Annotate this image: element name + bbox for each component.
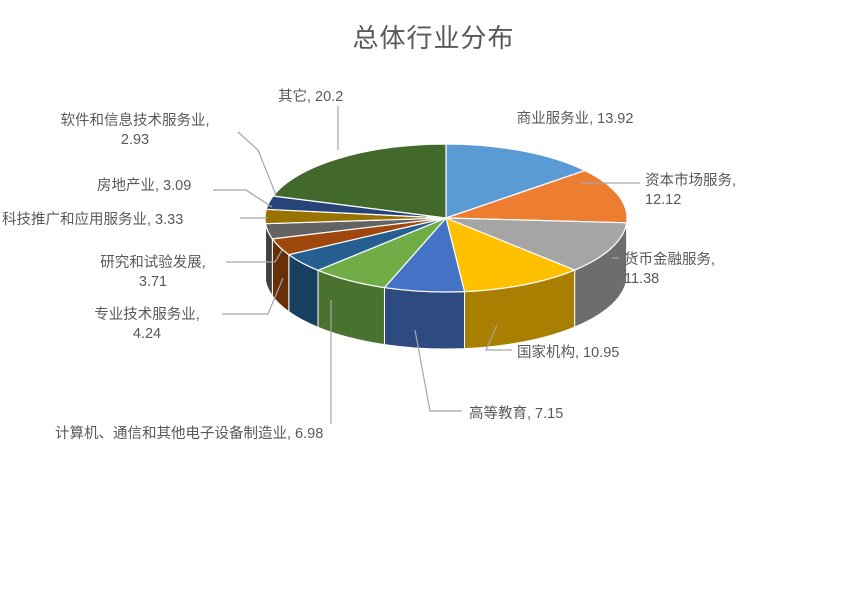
chart-area: 总体行业分布 商业服务业, 13.92 资本市场服务, 12.12 货币金融服务… [0, 0, 867, 596]
slice-label-real-estate: 房地产业, 3.09 [97, 177, 277, 196]
slice-label-business-services: 商业服务业, 13.92 [455, 110, 695, 129]
slice-label-monetary-finance: 货币金融服务, 11.38 [624, 251, 824, 288]
slice-label-higher-education: 高等教育, 7.15 [469, 405, 689, 424]
slice-label-computer-manufacturing: 计算机、通信和其他电子设备制造业, 6.98 [55, 425, 435, 444]
pie-slice-side [265, 217, 266, 280]
slice-label-tech-promotion: 科技推广和应用服务业, 3.33 [2, 211, 262, 230]
slice-label-others: 其它, 20.2 [278, 88, 438, 107]
slice-label-state-organs: 国家机构, 10.95 [517, 344, 747, 363]
slice-label-software-it: 软件和信息技术服务业, 2.93 [20, 112, 250, 149]
slice-label-capital-market: 资本市场服务, 12.12 [645, 172, 845, 209]
slice-label-research-development: 研究和试验发展, 3.71 [63, 254, 243, 291]
slice-label-professional-tech: 专业技术服务业, 4.24 [52, 306, 242, 343]
pie-slice-side [384, 288, 464, 349]
pie-top-faces [265, 144, 627, 292]
